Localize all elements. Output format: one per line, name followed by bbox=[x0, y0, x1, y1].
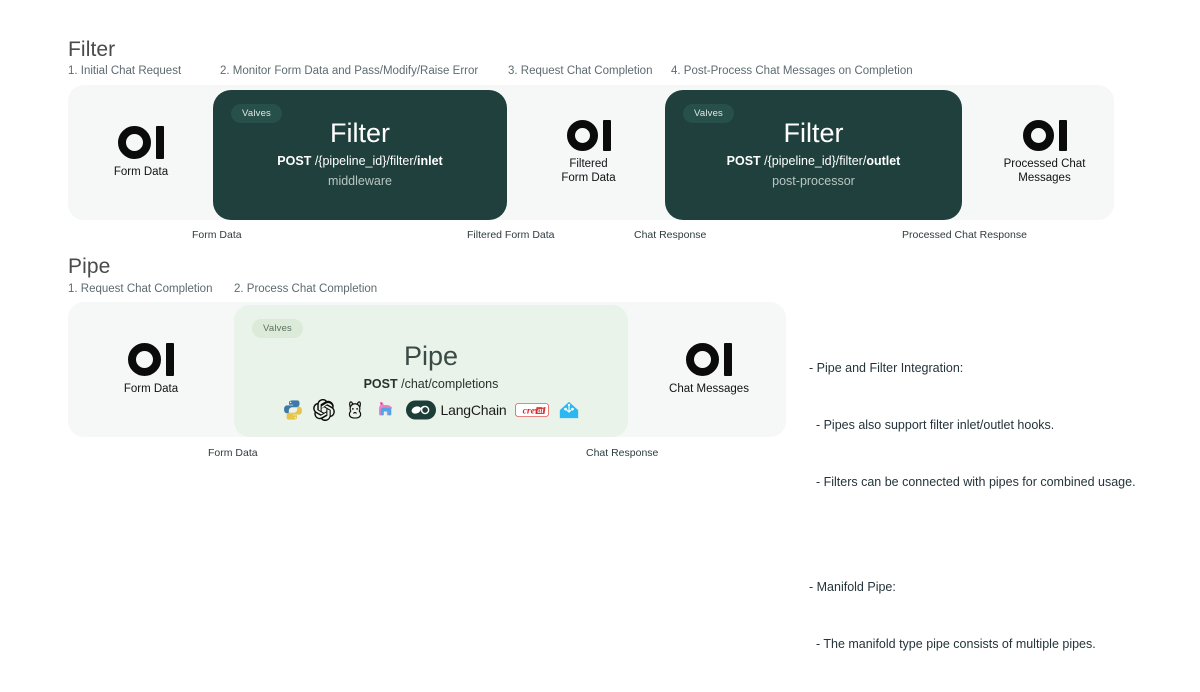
pipe-node-chat-messages: Chat Messages bbox=[632, 302, 786, 437]
pipe-integrations-row: LangChain crew ai bbox=[234, 399, 628, 421]
filter-step-3: 3. Request Chat Completion bbox=[508, 65, 652, 77]
filter-inlet-subtitle: middleware bbox=[213, 174, 507, 188]
filter-processed-chat-messages-caption: Processed Chat Messages bbox=[1004, 158, 1086, 185]
diagram-canvas: Filter 1. Initial Chat Request 2. Monito… bbox=[0, 0, 1200, 500]
filter-step-1: 1. Initial Chat Request bbox=[68, 65, 181, 77]
pipe-card-endpoint: POST /chat/completions bbox=[234, 377, 628, 391]
filter-outlet-endpoint: POST /{pipeline_id}/filter/outlet bbox=[665, 154, 962, 168]
open-webui-logo-icon bbox=[118, 126, 165, 159]
filter-form-data-caption: Form Data bbox=[114, 166, 168, 180]
pipe-flow-caption-2: Chat Response bbox=[586, 447, 658, 459]
pipe-node-form-data: Form Data bbox=[68, 302, 234, 437]
filter-node-processed-chat-messages: Processed Chat Messages bbox=[975, 85, 1114, 220]
filter-outlet-title: Filter bbox=[665, 118, 962, 149]
note-line-4: - Manifold Pipe: bbox=[809, 578, 1136, 597]
pipe-section-title: Pipe bbox=[68, 255, 110, 279]
caption-line-2: Form Data bbox=[561, 172, 615, 186]
svg-text:ai: ai bbox=[538, 406, 545, 415]
note-line-1: - Pipe and Filter Integration: bbox=[809, 359, 1136, 378]
ollama-logo-icon bbox=[344, 399, 366, 421]
filter-inlet-endpoint: POST /{pipeline_id}/filter/inlet bbox=[213, 154, 507, 168]
python-logo-icon bbox=[282, 399, 304, 421]
filter-inlet-path-emphasis: inlet bbox=[417, 154, 443, 168]
haystack-logo-icon bbox=[558, 399, 580, 421]
filter-outlet-subtitle: post-processor bbox=[665, 174, 962, 188]
langchain-integration: LangChain bbox=[406, 400, 507, 420]
filter-node-form-data: Form Data bbox=[68, 85, 214, 220]
note-line-blank bbox=[809, 530, 1136, 540]
caption-line-1: Processed Chat bbox=[1004, 158, 1086, 172]
filter-filtered-form-data-caption: Filtered Form Data bbox=[561, 158, 615, 185]
filter-inlet-card[interactable]: Valves Filter POST /{pipeline_id}/filter… bbox=[213, 90, 507, 220]
pipe-card-method: POST bbox=[364, 377, 398, 391]
open-webui-logo-icon bbox=[128, 343, 175, 376]
filter-node-filtered-form-data: Filtered Form Data bbox=[522, 85, 655, 220]
filter-flow-caption-4: Processed Chat Response bbox=[902, 229, 1027, 241]
pipe-chat-messages-caption: Chat Messages bbox=[669, 383, 749, 397]
open-webui-logo-icon bbox=[686, 343, 733, 376]
openai-logo-icon bbox=[313, 399, 335, 421]
pipe-card[interactable]: Valves Pipe POST /chat/completions bbox=[234, 305, 628, 437]
caption-line-1: Filtered bbox=[561, 158, 615, 172]
filter-outlet-path: /{pipeline_id}/filter/ bbox=[761, 154, 867, 168]
filter-inlet-path: /{pipeline_id}/filter/ bbox=[311, 154, 417, 168]
note-line-2: - Pipes also support filter inlet/outlet… bbox=[809, 416, 1136, 435]
langchain-label: LangChain bbox=[441, 402, 507, 418]
filter-outlet-method: POST bbox=[727, 154, 761, 168]
filter-flow-caption-2: Filtered Form Data bbox=[467, 229, 555, 241]
pipe-step-1: 1. Request Chat Completion bbox=[68, 283, 212, 295]
open-webui-logo-icon bbox=[1023, 120, 1067, 151]
filter-step-4: 4. Post-Process Chat Messages on Complet… bbox=[671, 65, 913, 77]
pipe-flow-caption-1: Form Data bbox=[208, 447, 258, 459]
filter-step-2: 2. Monitor Form Data and Pass/Modify/Rai… bbox=[220, 65, 478, 77]
filter-inlet-method: POST bbox=[277, 154, 311, 168]
pipe-card-path: /chat/completions bbox=[398, 377, 499, 391]
valves-badge-pipe[interactable]: Valves bbox=[252, 319, 303, 338]
llama-logo-icon bbox=[375, 399, 397, 421]
pipe-form-data-caption: Form Data bbox=[124, 383, 178, 397]
langchain-logo-icon bbox=[406, 400, 436, 420]
crewai-logo-icon: crew ai bbox=[515, 400, 549, 420]
filter-inlet-title: Filter bbox=[213, 118, 507, 149]
open-webui-logo-icon bbox=[567, 120, 611, 151]
filter-outlet-path-emphasis: outlet bbox=[866, 154, 900, 168]
note-line-5: - The manifold type pipe consists of mul… bbox=[809, 635, 1136, 654]
filter-outlet-card[interactable]: Valves Filter POST /{pipeline_id}/filter… bbox=[665, 90, 962, 220]
filter-flow-caption-1: Form Data bbox=[192, 229, 242, 241]
notes-block: - Pipe and Filter Integration: - Pipes a… bbox=[809, 321, 1136, 692]
caption-line-2: Messages bbox=[1004, 172, 1086, 186]
pipe-step-2: 2. Process Chat Completion bbox=[234, 283, 377, 295]
filter-section-title: Filter bbox=[68, 38, 115, 62]
filter-flow-caption-3: Chat Response bbox=[634, 229, 706, 241]
note-line-3: - Filters can be connected with pipes fo… bbox=[809, 473, 1136, 492]
pipe-card-title: Pipe bbox=[234, 341, 628, 372]
